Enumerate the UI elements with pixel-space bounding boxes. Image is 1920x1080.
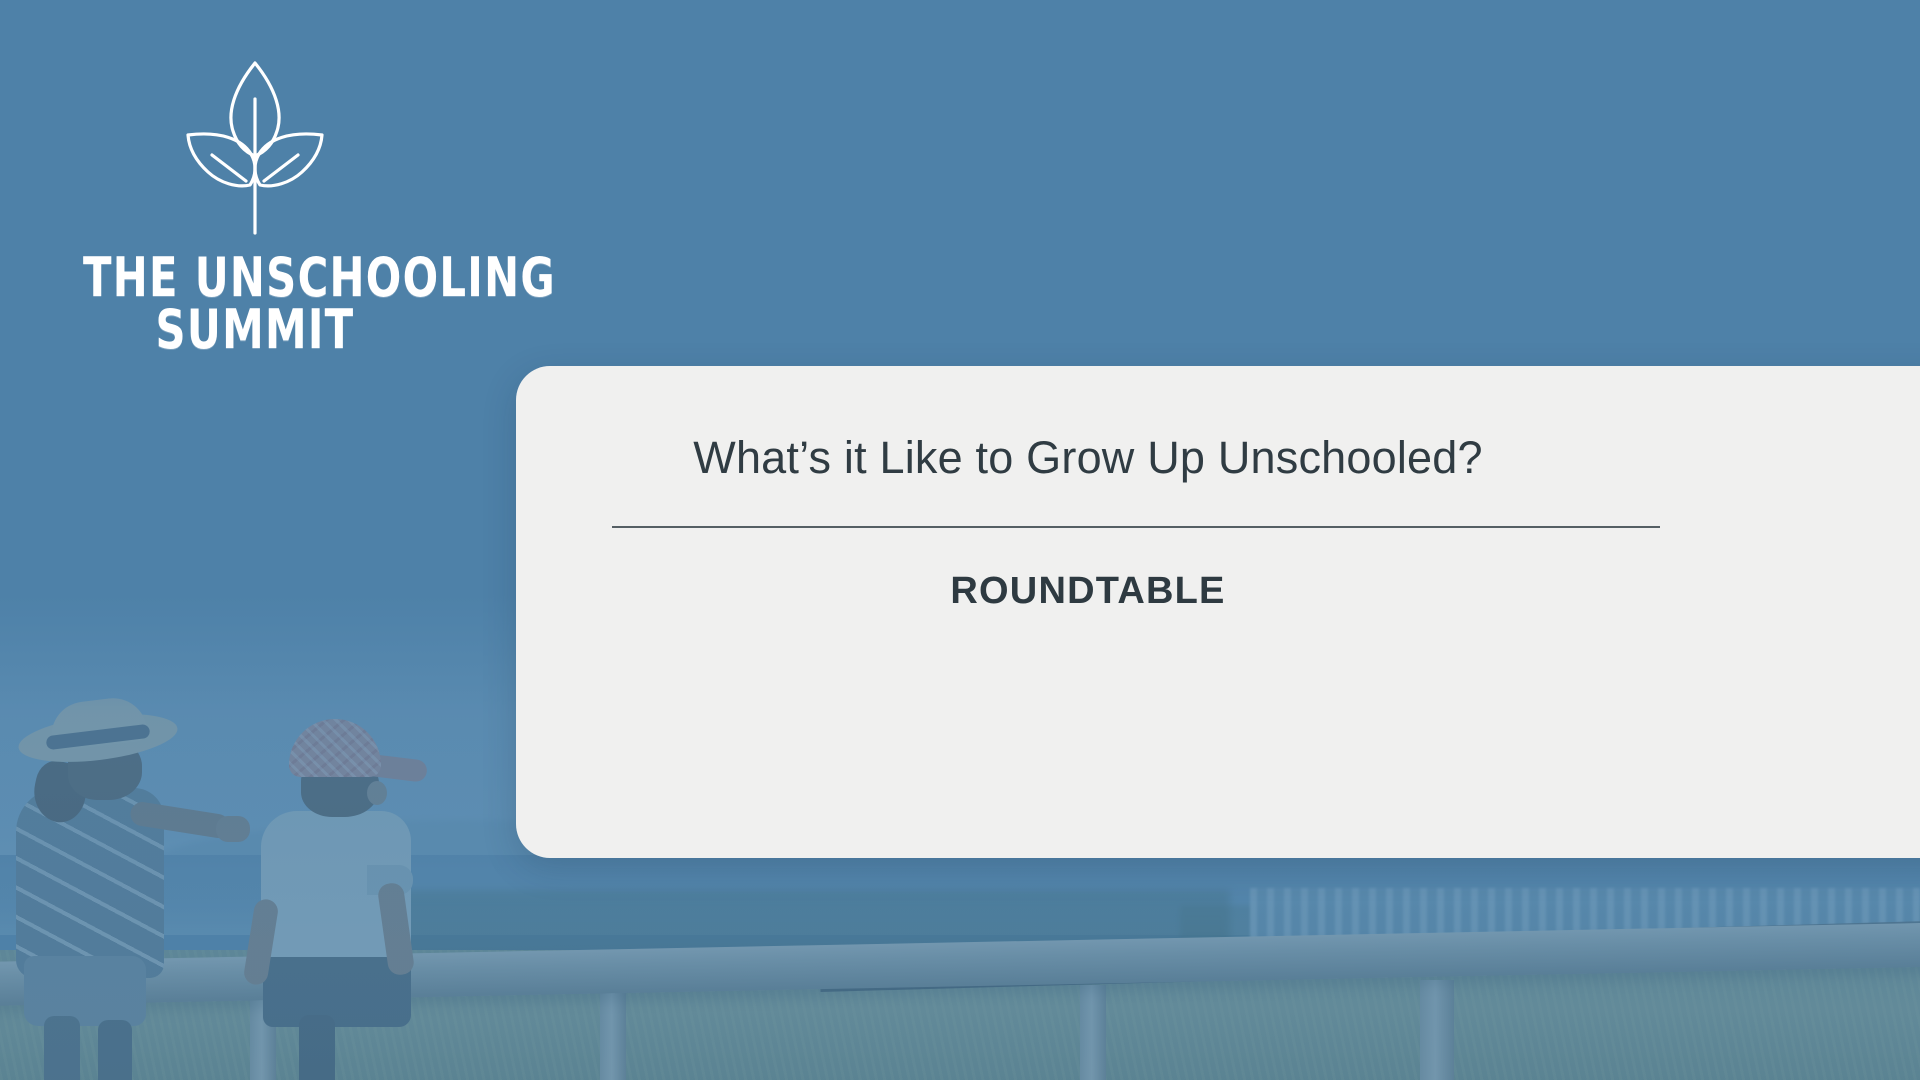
logo-wordmark: THE UNSCHOOLING SUMMIT — [83, 252, 427, 356]
logo-wordmark-line-1: THE UNSCHOOLING — [83, 252, 427, 304]
session-card: What’s it Like to Grow Up Unschooled? RO… — [516, 366, 1920, 858]
summit-logo: THE UNSCHOOLING SUMMIT — [55, 55, 455, 356]
session-type-label: ROUNDTABLE — [516, 570, 1660, 613]
plant-sprout-leaf-icon — [180, 55, 330, 240]
slide-root: THE UNSCHOOLING SUMMIT What’s it Like to… — [0, 0, 1920, 1080]
title-divider — [612, 526, 1660, 528]
logo-wordmark-line-2: SUMMIT — [83, 304, 427, 356]
session-title: What’s it Like to Grow Up Unschooled? — [516, 432, 1660, 484]
session-card-content: What’s it Like to Grow Up Unschooled? RO… — [516, 366, 1660, 858]
